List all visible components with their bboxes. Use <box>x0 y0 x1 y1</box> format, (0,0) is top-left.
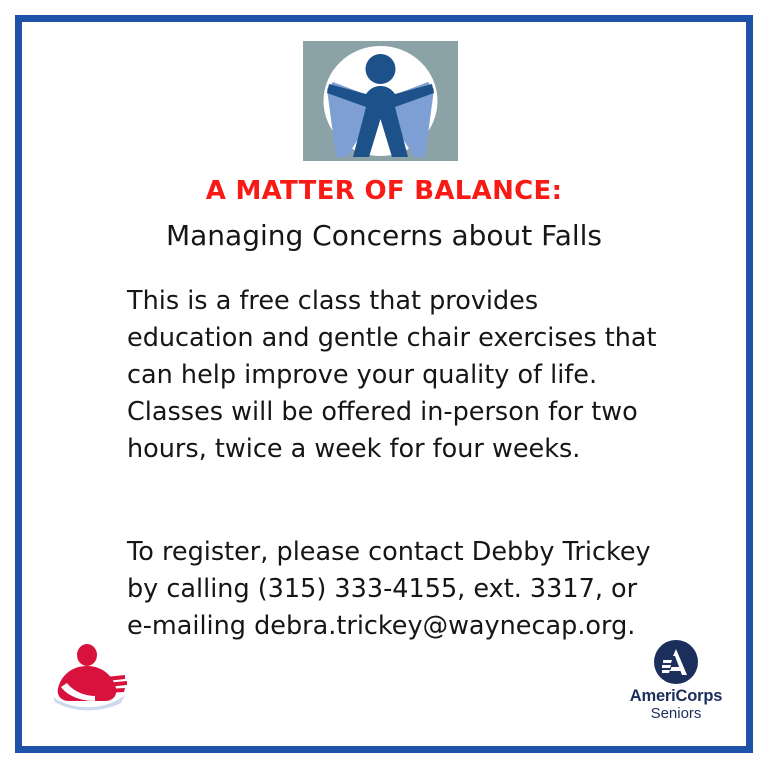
balance-person-logo <box>303 41 458 161</box>
americorps-emblem-icon <box>654 640 698 684</box>
americorps-seniors-text: Seniors <box>621 705 731 722</box>
page-title-subtitle: Managing Concerns about Falls <box>0 219 768 252</box>
americorps-wordmark-text: AmeriCorps <box>621 687 731 705</box>
class-description-text: This is a free class that provides educa… <box>127 283 667 468</box>
caregiver-embrace-logo <box>47 643 131 711</box>
balance-person-icon <box>303 41 458 161</box>
page-title-main: A MATTER OF BALANCE: <box>0 176 768 206</box>
caregiver-embrace-icon <box>47 643 131 711</box>
flyer-canvas: A MATTER OF BALANCE: Managing Concerns a… <box>0 0 768 768</box>
registration-contact-text: To register, please contact Debby Tricke… <box>127 534 667 645</box>
americorps-seniors-logo: AmeriCorps Seniors <box>621 640 731 724</box>
